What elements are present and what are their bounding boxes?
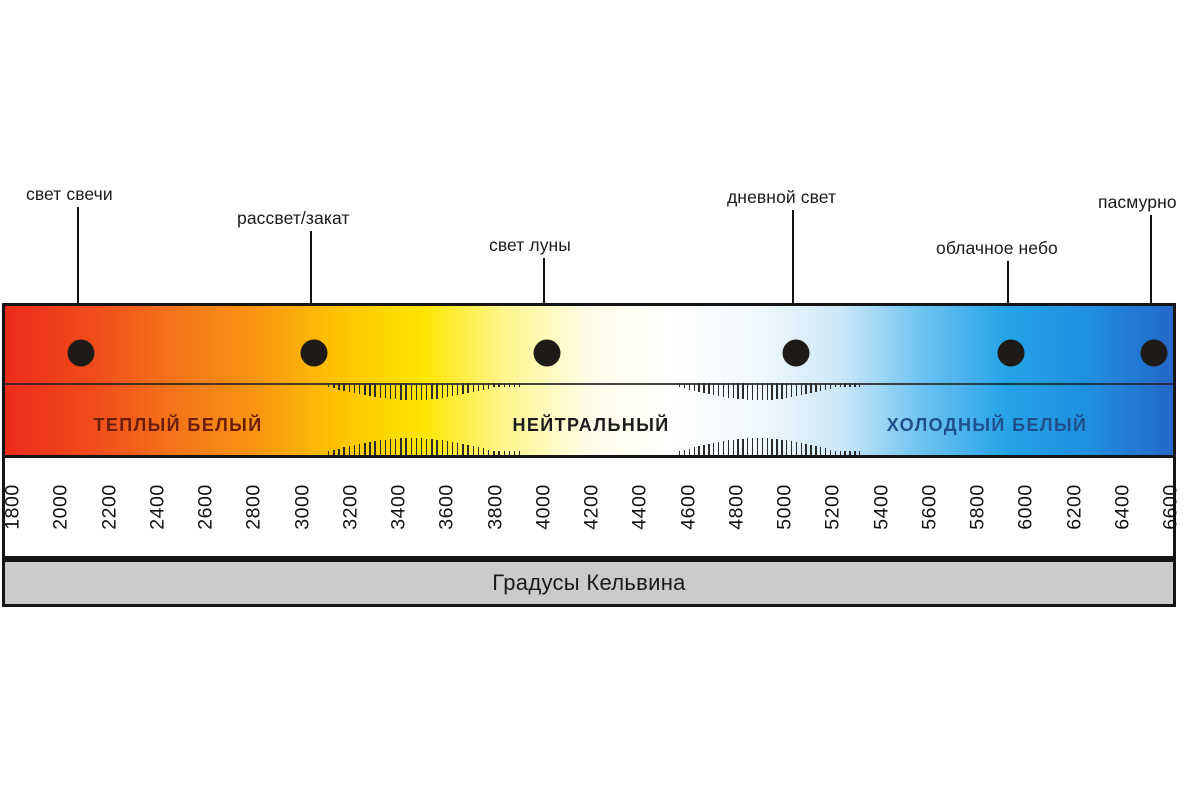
ruler-tick bbox=[781, 383, 782, 399]
ruler-tick bbox=[405, 383, 406, 400]
scale-label-3800: 3800 bbox=[484, 484, 507, 529]
ruler-tick bbox=[338, 383, 339, 390]
ruler-tick bbox=[786, 383, 787, 398]
ruler-tick bbox=[504, 383, 505, 387]
ruler-tick bbox=[737, 383, 738, 399]
ruler-tick bbox=[689, 449, 690, 456]
ruler-tick bbox=[830, 450, 831, 456]
ruler-tick bbox=[844, 451, 845, 455]
ruler-tick bbox=[405, 438, 406, 455]
scale-label-5400: 5400 bbox=[870, 484, 893, 529]
scale-label-5800: 5800 bbox=[967, 484, 990, 529]
ruler-tick bbox=[493, 451, 494, 455]
ruler-tick bbox=[791, 383, 792, 397]
ruler-tick bbox=[854, 383, 855, 387]
ruler-tick bbox=[698, 383, 699, 392]
ruler-tick bbox=[854, 451, 855, 455]
scale-label-2600: 2600 bbox=[195, 484, 218, 529]
scale-label-4400: 4400 bbox=[629, 484, 652, 529]
ruler-tick bbox=[791, 441, 792, 455]
ruler-tick bbox=[395, 439, 396, 455]
ruler-tick bbox=[698, 446, 699, 455]
pointer-dot-sunrise-sunset bbox=[301, 340, 328, 367]
ruler-tick bbox=[452, 442, 453, 455]
ruler-tick bbox=[757, 438, 758, 455]
ruler-tick bbox=[364, 383, 365, 395]
callout-label-candlelight: свет свечи bbox=[26, 184, 113, 205]
ruler-tick bbox=[411, 383, 412, 400]
ruler-tick bbox=[488, 450, 489, 456]
band-divider-line bbox=[5, 383, 1173, 385]
ruler-tick bbox=[801, 443, 802, 455]
ruler-tick bbox=[810, 445, 811, 455]
ruler-tick bbox=[390, 383, 391, 399]
ruler-tick bbox=[374, 441, 375, 455]
ruler-tick bbox=[825, 448, 826, 455]
ruler-tick bbox=[457, 383, 458, 395]
callout-label-moonlight: свет луны bbox=[489, 235, 571, 256]
ruler-tick bbox=[747, 383, 748, 400]
pointer-dot-cloudy-sky bbox=[998, 340, 1025, 367]
ruler-tick bbox=[713, 383, 714, 395]
ruler-tick bbox=[781, 440, 782, 456]
ruler-tick bbox=[718, 383, 719, 396]
callout-label-cloudy-sky: облачное небо bbox=[936, 238, 1058, 259]
ruler-tick bbox=[820, 383, 821, 391]
scale-label-2000: 2000 bbox=[50, 484, 73, 529]
ruler-tick bbox=[385, 383, 386, 398]
ruler-tick bbox=[509, 383, 510, 387]
ruler-tick bbox=[493, 383, 494, 387]
ruler-tick bbox=[767, 383, 768, 400]
ruler-tick bbox=[767, 438, 768, 455]
ruler-tick bbox=[380, 440, 381, 455]
ruler-tick bbox=[694, 383, 695, 391]
ruler-tick bbox=[694, 447, 695, 455]
ruler-tick bbox=[462, 444, 463, 455]
ruler-tick bbox=[359, 444, 360, 455]
ruler-tick bbox=[478, 383, 479, 391]
ruler-tick bbox=[400, 383, 401, 400]
ruler-tick bbox=[835, 451, 836, 455]
ruler-tick bbox=[514, 451, 515, 455]
ruler-tick bbox=[452, 383, 453, 396]
ruler-tick bbox=[395, 383, 396, 399]
ruler-tick bbox=[504, 451, 505, 455]
pointer-dot-daylight bbox=[783, 340, 810, 367]
ruler-tick bbox=[442, 440, 443, 455]
ruler-tick bbox=[338, 449, 339, 456]
ruler-tick bbox=[752, 438, 753, 455]
ruler-tick bbox=[830, 383, 831, 389]
ruler-tick bbox=[679, 383, 680, 387]
kelvin-scale: 1800200022002400260028003000320034003600… bbox=[2, 458, 1176, 559]
ruler-tick bbox=[718, 442, 719, 455]
ruler-tick bbox=[713, 443, 714, 455]
ruler-tick bbox=[859, 383, 860, 387]
ruler-tick bbox=[400, 438, 401, 455]
ruler-tick bbox=[349, 446, 350, 455]
ruler-tick bbox=[421, 383, 422, 400]
ruler-tick bbox=[708, 383, 709, 394]
ruler-tick bbox=[519, 383, 520, 387]
ruler-tick bbox=[820, 447, 821, 455]
ruler-tick bbox=[447, 383, 448, 397]
ruler-tick bbox=[796, 442, 797, 455]
ruler-tick bbox=[684, 450, 685, 455]
scale-label-4800: 4800 bbox=[725, 484, 748, 529]
ruler-tick bbox=[473, 446, 474, 455]
ruler-tick bbox=[815, 383, 816, 392]
ruler-tick bbox=[436, 440, 437, 456]
ruler-tick bbox=[421, 438, 422, 455]
ruler-tick bbox=[473, 383, 474, 392]
ruler-tick bbox=[689, 383, 690, 390]
ruler-tick bbox=[796, 383, 797, 396]
ruler-tick bbox=[805, 444, 806, 455]
ruler-tick bbox=[416, 438, 417, 455]
scale-label-6000: 6000 bbox=[1015, 484, 1038, 529]
ruler-tick bbox=[390, 439, 391, 455]
ruler-tick bbox=[825, 383, 826, 390]
ruler-tick bbox=[467, 383, 468, 393]
ruler-tick bbox=[431, 439, 432, 455]
ruler-tick bbox=[442, 383, 443, 398]
ruler-tick bbox=[849, 383, 850, 387]
ruler-tick bbox=[840, 451, 841, 455]
ruler-tick bbox=[483, 448, 484, 455]
ruler-tick bbox=[343, 383, 344, 391]
ruler-tick bbox=[771, 439, 772, 456]
ruler-tick bbox=[703, 383, 704, 393]
ruler-tick bbox=[462, 383, 463, 394]
ruler-tick bbox=[723, 441, 724, 455]
ruler-tick bbox=[354, 383, 355, 393]
ruler-tick bbox=[369, 383, 370, 396]
callout-label-overcast: пасмурно bbox=[1098, 192, 1177, 213]
scale-label-5600: 5600 bbox=[918, 484, 941, 529]
ruler-tick bbox=[498, 451, 499, 455]
ruler-tick bbox=[762, 383, 763, 400]
scale-label-6400: 6400 bbox=[1111, 484, 1134, 529]
ruler-tick bbox=[801, 383, 802, 395]
ruler-tick bbox=[733, 440, 734, 455]
ruler-tick bbox=[498, 383, 499, 387]
ruler-tick bbox=[364, 443, 365, 455]
scale-label-5000: 5000 bbox=[774, 484, 797, 529]
ruler-tick bbox=[467, 445, 468, 455]
ruler-tick bbox=[752, 383, 753, 400]
scale-label-2200: 2200 bbox=[98, 484, 121, 529]
pointer-dot-candlelight bbox=[68, 340, 95, 367]
ruler-tick bbox=[343, 447, 344, 455]
ruler-tick bbox=[416, 383, 417, 400]
ruler-tick bbox=[333, 383, 334, 388]
ruler-tick bbox=[703, 445, 704, 455]
callout-label-daylight: дневной свет bbox=[727, 187, 836, 208]
scale-label-4000: 4000 bbox=[532, 484, 555, 529]
kelvin-caption: Градусы Кельвина bbox=[492, 570, 685, 596]
ruler-tick bbox=[369, 442, 370, 455]
ruler-tick bbox=[815, 446, 816, 455]
ruler-tick bbox=[478, 447, 479, 455]
ruler-tick bbox=[849, 451, 850, 455]
ruler-tick bbox=[349, 383, 350, 392]
ruler-tick bbox=[684, 383, 685, 388]
ruler-tick bbox=[810, 383, 811, 393]
ruler-tick bbox=[483, 383, 484, 390]
ruler-tick bbox=[426, 439, 427, 456]
scale-label-3200: 3200 bbox=[339, 484, 362, 529]
ruler-tick bbox=[328, 383, 329, 387]
ruler-tick bbox=[840, 383, 841, 387]
ruler-tick bbox=[708, 444, 709, 455]
ruler-tick bbox=[747, 438, 748, 455]
ruler-tick bbox=[776, 439, 777, 455]
scale-label-4600: 4600 bbox=[677, 484, 700, 529]
ruler-tick bbox=[509, 451, 510, 455]
scale-label-3000: 3000 bbox=[291, 484, 314, 529]
ruler-tick bbox=[333, 450, 334, 455]
ruler-tick bbox=[380, 383, 381, 398]
ruler-tick bbox=[436, 383, 437, 399]
scale-label-3400: 3400 bbox=[388, 484, 411, 529]
ruler-tick bbox=[844, 383, 845, 387]
scale-label-3600: 3600 bbox=[436, 484, 459, 529]
ruler-tick bbox=[411, 438, 412, 455]
pointer-dot-moonlight bbox=[534, 340, 561, 367]
ruler-tick bbox=[771, 383, 772, 400]
band-label-neutral: НЕЙТРАЛЬНЫЙ bbox=[512, 415, 669, 436]
ruler-tick bbox=[519, 451, 520, 455]
ruler-tick bbox=[786, 440, 787, 455]
ruler-tick bbox=[426, 383, 427, 400]
scale-label-5200: 5200 bbox=[822, 484, 845, 529]
scale-label-6200: 6200 bbox=[1063, 484, 1086, 529]
pointer-dot-overcast bbox=[1141, 340, 1168, 367]
ruler-tick bbox=[374, 383, 375, 397]
ruler-tick bbox=[488, 383, 489, 389]
callout-label-sunrise-sunset: рассвет/закат bbox=[237, 208, 350, 229]
ruler-tick bbox=[385, 440, 386, 455]
ruler-tick bbox=[742, 439, 743, 455]
ruler-tick bbox=[457, 443, 458, 455]
ruler-tick bbox=[431, 383, 432, 399]
ruler-tick bbox=[679, 451, 680, 455]
ruler-tick bbox=[728, 383, 729, 398]
scale-label-1800: 1800 bbox=[2, 484, 25, 529]
ruler-tick bbox=[328, 451, 329, 455]
ruler-tick bbox=[737, 439, 738, 455]
ruler-tick bbox=[776, 383, 777, 399]
scale-label-2800: 2800 bbox=[243, 484, 266, 529]
scale-label-4200: 4200 bbox=[581, 484, 604, 529]
color-temperature-bar: ТЕПЛЫЙ БЕЛЫЙНЕЙТРАЛЬНЫЙХОЛОДНЫЙ БЕЛЫЙ bbox=[2, 303, 1176, 458]
ruler-tick bbox=[723, 383, 724, 397]
scale-label-2400: 2400 bbox=[146, 484, 169, 529]
kelvin-caption-bar: Градусы Кельвина bbox=[2, 559, 1176, 607]
scale-label-6600: 6600 bbox=[1160, 484, 1183, 529]
ruler-tick bbox=[859, 451, 860, 455]
band-label-warm-white: ТЕПЛЫЙ БЕЛЫЙ bbox=[93, 415, 262, 436]
band-label-cool-white: ХОЛОДНЫЙ БЕЛЫЙ bbox=[887, 415, 1088, 436]
ruler-tick bbox=[354, 445, 355, 455]
ruler-tick bbox=[514, 383, 515, 387]
ruler-tick bbox=[733, 383, 734, 398]
ruler-tick bbox=[359, 383, 360, 394]
ruler-tick bbox=[762, 438, 763, 455]
ruler-tick bbox=[447, 441, 448, 455]
ruler-tick bbox=[742, 383, 743, 399]
ruler-tick bbox=[757, 383, 758, 400]
ruler-tick bbox=[835, 383, 836, 387]
ruler-tick bbox=[805, 383, 806, 394]
ruler-tick bbox=[728, 440, 729, 455]
